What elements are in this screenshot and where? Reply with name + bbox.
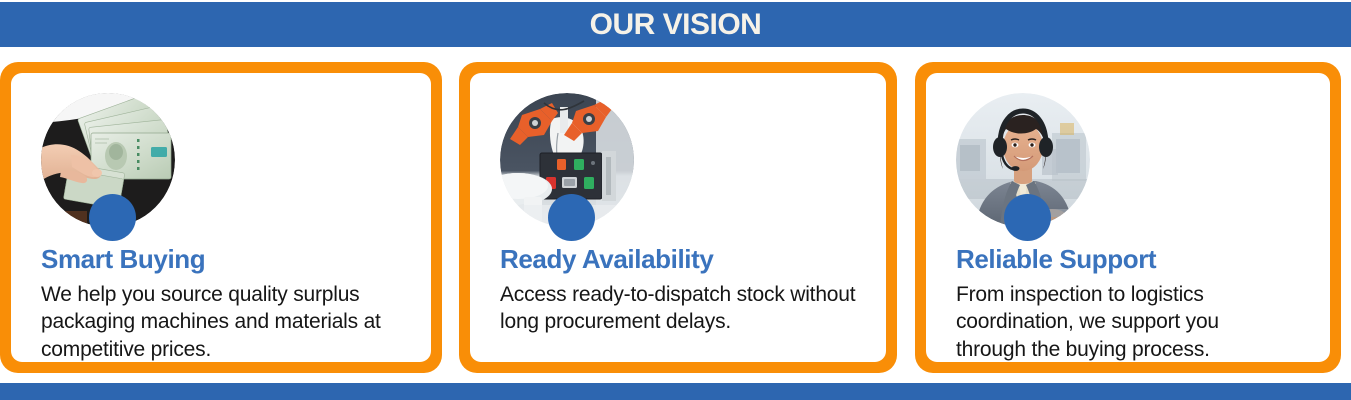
section-footer-bar <box>0 383 1351 400</box>
card-title: Smart Buying <box>41 245 409 274</box>
feature-card-smart-buying[interactable]: Smart Buying We help you source quality … <box>0 62 442 373</box>
our-vision-section: OUR VISION <box>0 0 1351 400</box>
blue-circle-badge <box>89 194 136 241</box>
card-media <box>41 93 175 227</box>
card-inner: Ready Availability Access ready-to-dispa… <box>470 73 886 362</box>
blue-circle-badge <box>548 194 595 241</box>
feature-card-ready-availability[interactable]: Ready Availability Access ready-to-dispa… <box>459 62 897 373</box>
card-media <box>500 93 634 227</box>
card-media <box>956 93 1090 227</box>
blue-circle-badge <box>1004 194 1051 241</box>
card-title: Reliable Support <box>956 245 1308 274</box>
feature-card-reliable-support[interactable]: Reliable Support From inspection to logi… <box>915 62 1341 373</box>
card-description: Access ready-to-dispatch stock without l… <box>500 281 864 336</box>
section-header-bar: OUR VISION <box>0 2 1351 47</box>
card-description: From inspection to logistics coordinatio… <box>956 281 1286 362</box>
page-title: OUR VISION <box>590 10 762 40</box>
card-description: We help you source quality surplus packa… <box>41 281 409 362</box>
feature-cards-row: Smart Buying We help you source quality … <box>0 62 1351 373</box>
card-title: Ready Availability <box>500 245 864 274</box>
card-inner: Smart Buying We help you source quality … <box>11 73 431 362</box>
card-inner: Reliable Support From inspection to logi… <box>926 73 1330 362</box>
